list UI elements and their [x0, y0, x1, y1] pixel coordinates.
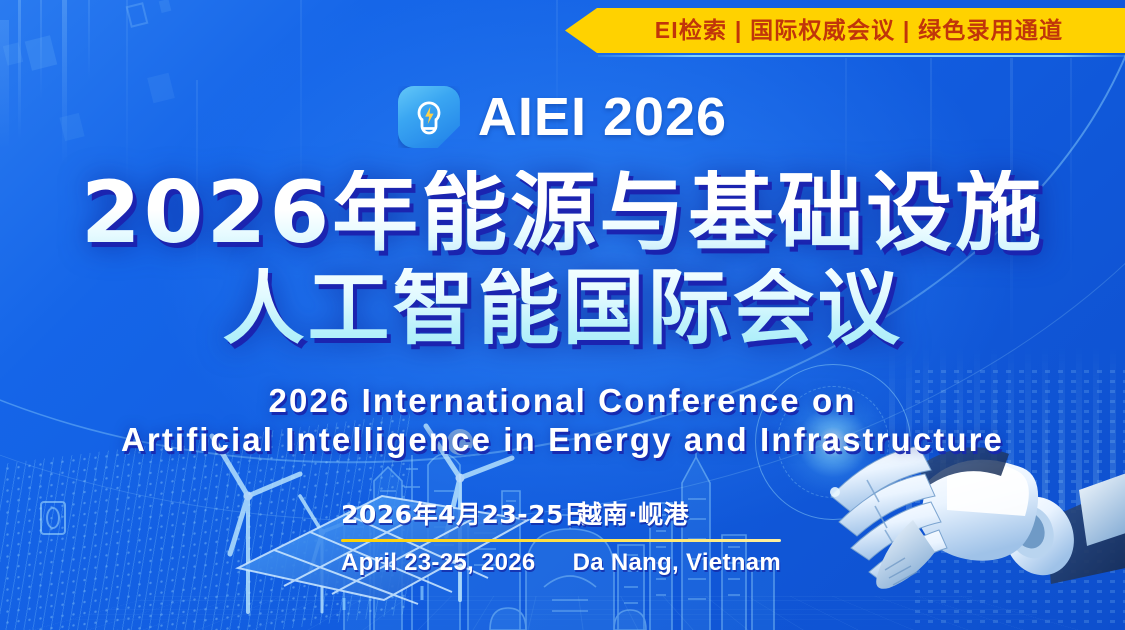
event-meta: 2026年4月23-25日 越南·岘港 April 23-25, 2026 Da… [341, 495, 781, 577]
acronym-title: AIEI 2026 [478, 90, 727, 144]
english-title-line-2: Artificial Intelligence in Energy and In… [0, 421, 1125, 460]
event-meta-chinese-row: 2026年4月23-25日 越南·岘港 [341, 495, 781, 531]
event-date-cn: 2026年4月23-25日 [341, 495, 577, 531]
chinese-title: 2026年能源与基础设施 人工智能国际会议 [0, 170, 1125, 350]
chinese-title-line-1: 2026年能源与基础设施 [0, 170, 1125, 256]
event-meta-english-row: April 23-25, 2026 Da Nang, Vietnam [341, 549, 781, 577]
brand-row: AIEI 2026 [0, 86, 1125, 148]
event-location-en: Da Nang, Vietnam [573, 549, 781, 577]
english-title: 2026 International Conference on Artific… [0, 382, 1125, 460]
energy-target-bolt-logo-icon [398, 86, 460, 148]
conference-banner: EI检索 | 国际权威会议 | 绿色录用通道 AIEI 2026 2026年能源… [0, 0, 1125, 630]
chinese-title-line-2: 人工智能国际会议 [0, 268, 1125, 350]
event-location-cn: 越南·岘港 [577, 495, 689, 531]
event-date-en: April 23-25, 2026 [341, 549, 573, 577]
english-title-line-1: 2026 International Conference on [0, 382, 1125, 421]
banner-content: AIEI 2026 2026年能源与基础设施 人工智能国际会议 2026 Int… [0, 0, 1125, 630]
bolt-target-glyph [409, 97, 449, 137]
meta-divider [341, 539, 781, 542]
